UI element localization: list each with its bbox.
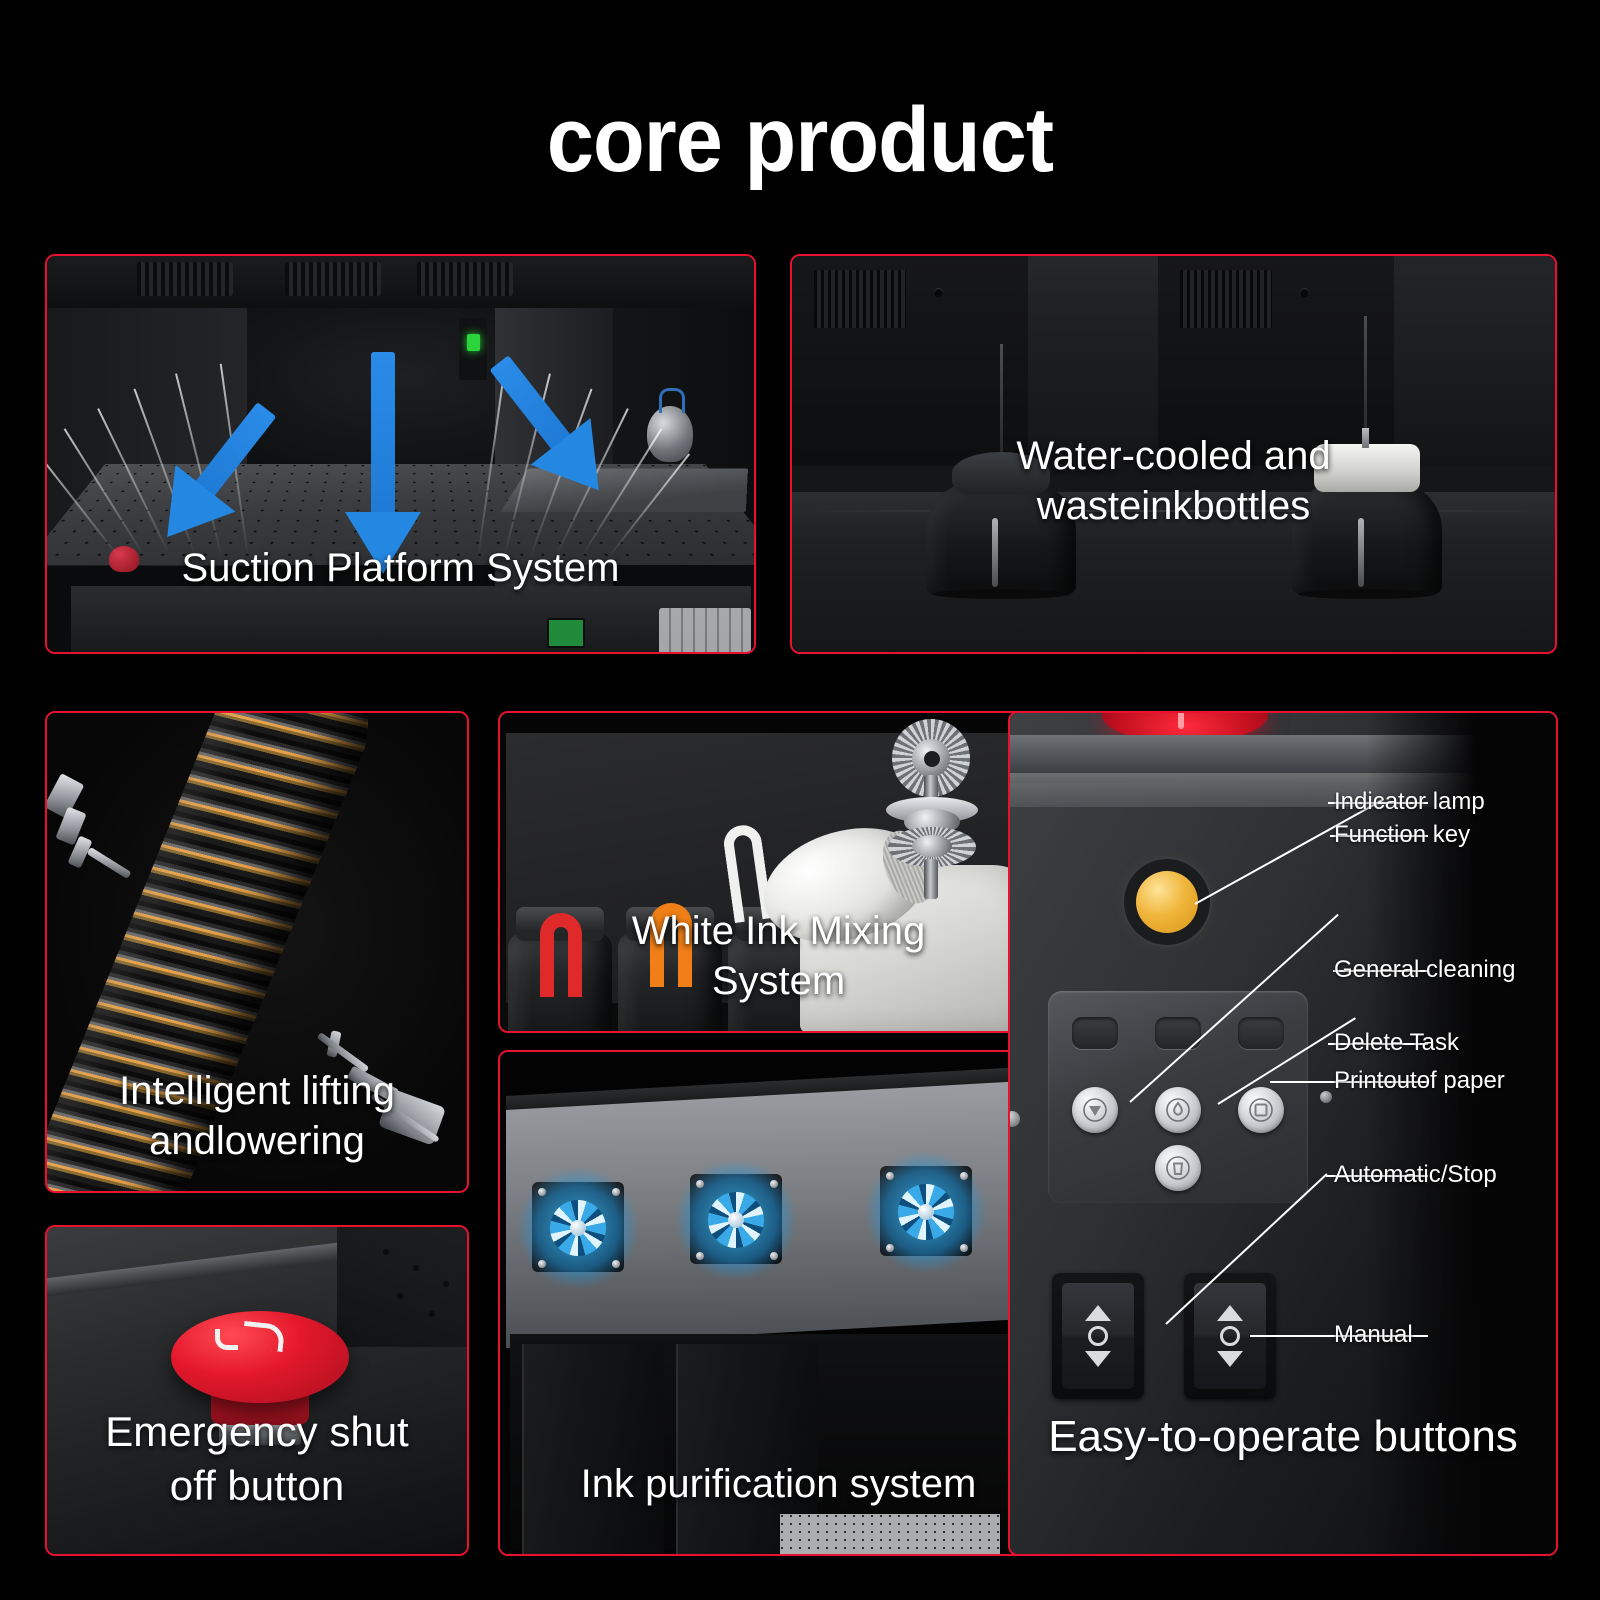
cabinet-door-left — [522, 1344, 664, 1554]
bottle-cap-white — [1314, 444, 1420, 492]
fan-screw — [696, 1180, 704, 1188]
fan-blades-icon — [550, 1200, 606, 1256]
panel-white-ink-mixing: White Ink Mixing System — [498, 711, 1059, 1033]
cabinet-wall-left-face — [1028, 256, 1158, 466]
nozzle-head — [647, 406, 693, 462]
cabinet-wall-right-face — [1394, 256, 1555, 466]
keypad-rect-button-3[interactable] — [1238, 1017, 1284, 1049]
estop-reset-arrow-left-icon — [215, 1329, 238, 1350]
fan-blades-icon — [708, 1192, 764, 1248]
perforation-dot — [429, 1311, 435, 1317]
purification-fan-2 — [682, 1168, 790, 1272]
triangle-up-icon — [1085, 1305, 1111, 1321]
suction-platform-photo — [47, 256, 754, 652]
fan-screw — [960, 1172, 968, 1180]
panel-intelligent-lifting: Intelligent lifting andlowering — [45, 711, 469, 1193]
triangle-up-icon — [1217, 1305, 1243, 1321]
infographic-canvas: core product — [0, 0, 1600, 1600]
panel-screw-right — [1320, 1091, 1332, 1103]
vent-grille-bottle-left — [814, 270, 906, 328]
ink-purification-photo — [500, 1052, 1057, 1554]
bottle-base-ring — [1298, 589, 1436, 599]
fan-screw — [770, 1252, 778, 1260]
waste-ink-bottles-photo — [792, 256, 1555, 652]
function-keypad — [1048, 991, 1308, 1203]
paper-sheet-icon — [1248, 1097, 1274, 1123]
automatic-stop-rocker-switch[interactable] — [1052, 1273, 1144, 1399]
vent-grille-mid — [285, 262, 381, 296]
perforation-dot — [443, 1281, 449, 1287]
fan-screw — [538, 1260, 546, 1268]
rocker-face — [1062, 1283, 1134, 1389]
vent-grille-right — [417, 262, 513, 296]
perforation-dot — [397, 1293, 403, 1299]
panel-water-cooled-bottles: Water-cooled and wasteinkbottles — [790, 254, 1557, 654]
callout-general-cleaning: General cleaning — [1334, 956, 1515, 984]
bottle-cap-clear — [952, 452, 1050, 494]
cabinet-corner — [337, 1227, 467, 1347]
ink-tube-red — [540, 913, 582, 997]
callout-printout-of-paper: Printoutof paper — [1334, 1067, 1505, 1095]
callout-indicator-lamp: Indicator lamp — [1334, 788, 1485, 816]
vent-grille-left — [137, 262, 233, 296]
fan-screw — [538, 1188, 546, 1196]
waste-ink-bottle-left — [926, 482, 1076, 594]
fan-screw — [960, 1244, 968, 1252]
ink-droplet-icon — [1165, 1097, 1191, 1123]
callout-function-key: Function key — [1334, 821, 1470, 849]
side-keypad — [659, 608, 751, 652]
panel-ink-purification: Ink purification system — [498, 1050, 1059, 1556]
machine-base — [71, 586, 751, 652]
lifting-spring-photo — [47, 713, 467, 1191]
perforation-dot — [413, 1265, 419, 1271]
panel-suction-platform: Suction Platform System — [45, 254, 756, 654]
mount-hole-left — [934, 288, 943, 297]
gear-bottom-hub — [912, 835, 952, 857]
ink-tube-orange — [650, 903, 692, 987]
circle-o-icon — [1220, 1326, 1240, 1346]
play-triangle-icon — [1082, 1097, 1108, 1123]
callout-delete-task: Delete Task — [1334, 1029, 1459, 1057]
fan-screw — [886, 1172, 894, 1180]
fan-screw — [770, 1180, 778, 1188]
printout-of-paper-button[interactable] — [1238, 1087, 1284, 1133]
perforated-floor — [780, 1514, 1000, 1554]
purification-fan-3 — [872, 1160, 980, 1264]
gear-shaft-lower — [924, 859, 938, 899]
panel-emergency-stop: Emergency shut off button — [45, 1225, 469, 1556]
panel-control-buttons: Easy-to-operate buttons — [1008, 711, 1558, 1556]
green-rocker-switch — [547, 618, 585, 648]
waste-ink-bottle-right — [1292, 482, 1442, 594]
function-key-button[interactable] — [1155, 1087, 1201, 1133]
callout-automatic-stop: Automatic/Stop — [1334, 1161, 1497, 1189]
triangle-down-icon — [1217, 1351, 1243, 1367]
fan-screw — [612, 1260, 620, 1268]
fan-blades-icon — [898, 1184, 954, 1240]
bottle-base-ring — [932, 589, 1070, 599]
gear-top-bore — [924, 751, 940, 767]
delete-task-button[interactable] — [1155, 1145, 1201, 1191]
emergency-stop-photo — [47, 1227, 467, 1554]
purification-fan-1 — [524, 1176, 632, 1280]
green-led-icon — [467, 334, 480, 351]
mount-hole-right — [1300, 288, 1309, 297]
trash-bin-icon — [1165, 1155, 1191, 1181]
fan-screw — [886, 1244, 894, 1252]
white-ink-mixing-photo — [500, 713, 1057, 1031]
triangle-down-icon — [1085, 1351, 1111, 1367]
general-cleaning-button[interactable] — [1072, 1087, 1118, 1133]
circle-o-icon — [1088, 1326, 1108, 1346]
page-title: core product — [64, 88, 1536, 193]
perforation-dot — [383, 1249, 389, 1255]
vent-grille-bottle-right — [1180, 270, 1272, 328]
fan-screw — [612, 1188, 620, 1196]
indicator-lamp-icon — [1136, 871, 1198, 933]
callout-manual: Manual — [1334, 1321, 1413, 1349]
fan-screw — [696, 1252, 704, 1260]
keypad-rect-button-1[interactable] — [1072, 1017, 1118, 1049]
control-panel-photo — [1010, 713, 1556, 1554]
